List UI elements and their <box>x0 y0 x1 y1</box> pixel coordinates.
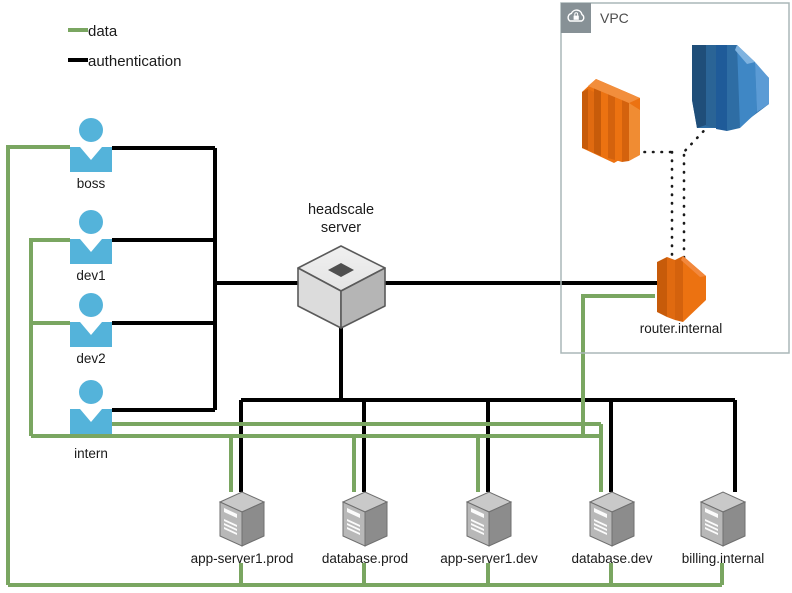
aws-router-icon <box>657 256 706 322</box>
user-intern: intern <box>70 380 112 461</box>
headscale-group: headscale server <box>298 202 385 328</box>
vpc-label: VPC <box>600 10 629 26</box>
cube-server-icon <box>298 246 385 328</box>
user-icon <box>79 210 103 234</box>
headscale-label-line1: headscale <box>308 202 374 218</box>
data-link-router <box>583 296 655 436</box>
user-boss-label: boss <box>77 176 106 191</box>
user-dev1-label: dev1 <box>76 268 105 283</box>
server-database-dev-label: database.dev <box>571 551 652 566</box>
data-link-dev1 <box>31 240 70 436</box>
user-intern-label: intern <box>74 446 108 461</box>
server-database-prod-label: database.prod <box>322 551 408 566</box>
legend: data authentication <box>68 23 181 70</box>
diagram-canvas: VPC router.internal <box>0 0 792 593</box>
server-database-dev: database.dev <box>571 492 652 566</box>
server-app-server1-prod: app-server1.prod <box>191 492 294 566</box>
vpc-dotted-links <box>636 119 715 262</box>
server-app-server1-prod-label: app-server1.prod <box>191 551 294 566</box>
aws-stack-orange-icon <box>582 79 640 163</box>
network-diagram: VPC router.internal <box>0 0 792 593</box>
user-icon <box>79 118 103 142</box>
aws-stack-blue-icon <box>692 45 769 131</box>
router-label: router.internal <box>640 321 723 336</box>
user-dev1: dev1 <box>70 210 112 283</box>
user-icon <box>79 293 103 317</box>
server-database-prod: database.prod <box>322 492 408 566</box>
server-billing-internal-label: billing.internal <box>682 551 765 566</box>
user-boss: boss <box>70 118 112 191</box>
user-dev2: dev2 <box>70 293 112 366</box>
user-dev2-label: dev2 <box>76 351 105 366</box>
user-icon <box>79 380 103 404</box>
server-app-server1-dev: app-server1.dev <box>440 492 538 566</box>
headscale-label-line2: server <box>321 220 361 236</box>
server-billing-internal: billing.internal <box>682 492 765 566</box>
legend-data-label: data <box>88 23 118 40</box>
server-app-server1-dev-label: app-server1.dev <box>440 551 538 566</box>
data-link-boss <box>8 147 70 585</box>
authentication-links <box>112 148 735 492</box>
legend-authentication-label: authentication <box>88 53 181 70</box>
